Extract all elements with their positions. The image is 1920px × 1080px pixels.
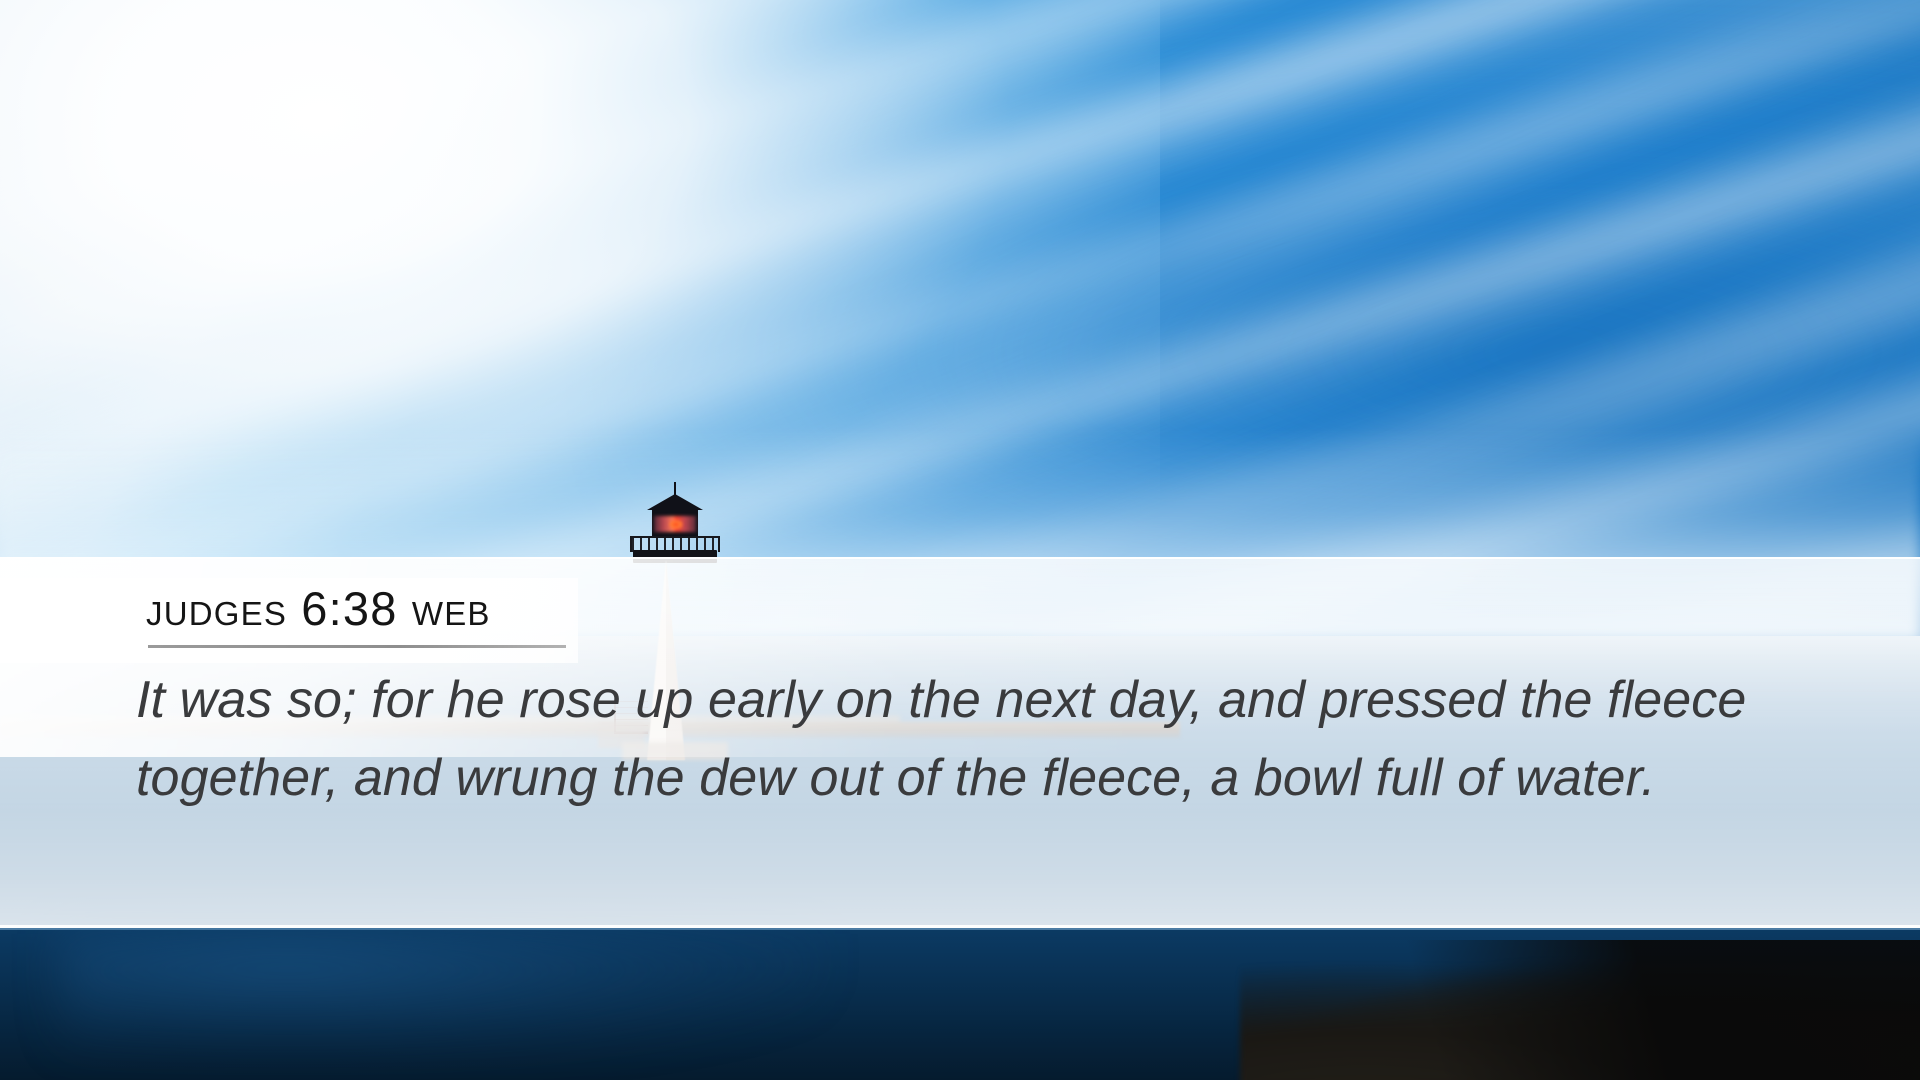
verse-text: It was so; for he rose up early on the n… <box>136 661 1796 817</box>
water-sheen <box>60 934 820 1054</box>
lighthouse-beacon-core <box>669 520 683 529</box>
rocky-shoreline-shadow <box>1200 940 1920 1080</box>
wallpaper-canvas: Judges 6:38 WEB It was so; for he rose u… <box>0 0 1920 1080</box>
reference-underline-rule <box>148 645 566 648</box>
verse-reference: Judges 6:38 WEB <box>146 585 491 632</box>
